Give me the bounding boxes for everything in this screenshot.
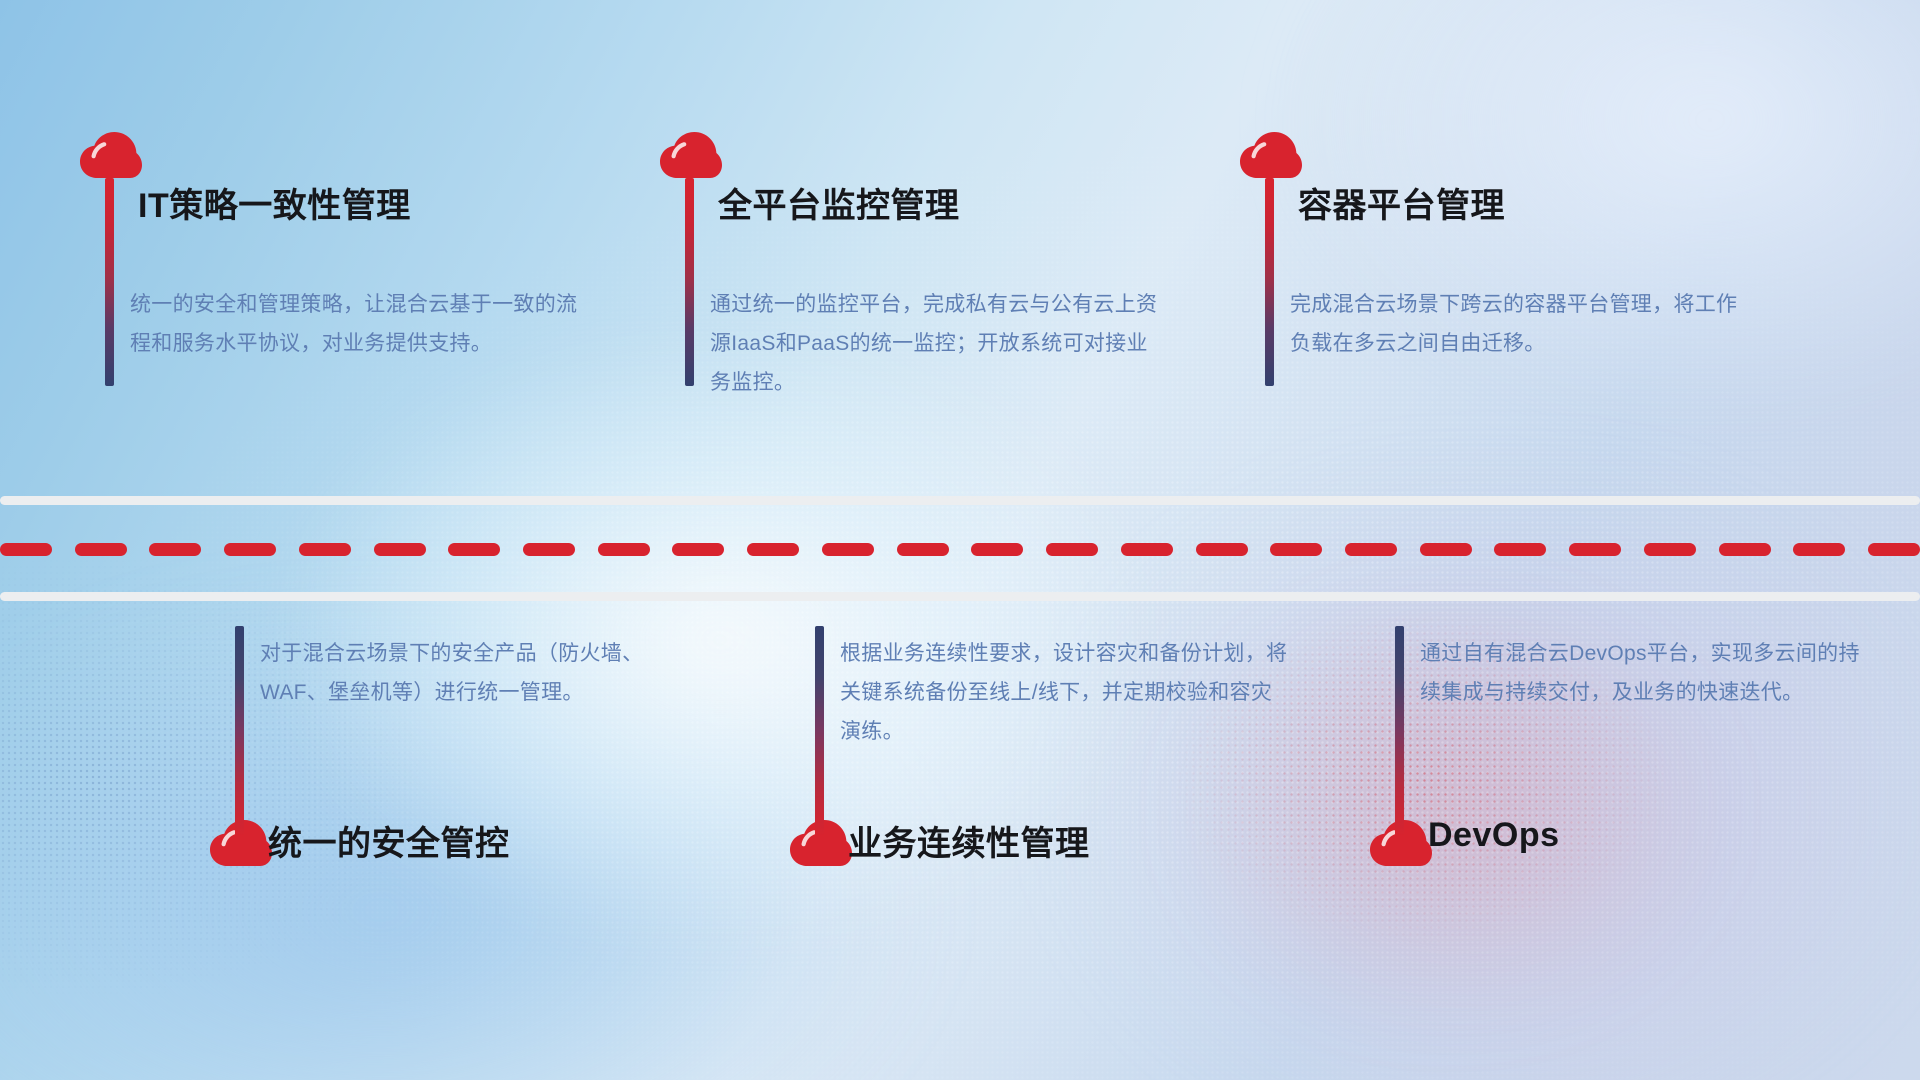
column-description: 根据业务连续性要求，设计容灾和备份计划，将关键系统备份至线上/线下，并定期校验和… <box>840 634 1290 751</box>
divider-dash <box>971 543 1023 556</box>
column-heading: 容器平台管理 <box>1298 178 1505 227</box>
divider-dash <box>1121 543 1173 556</box>
divider-dashed-line <box>0 543 1920 556</box>
infographic-canvas: IT策略一致性管理统一的安全和管理策略，让混合云基于一致的流程和服务水平协议，对… <box>0 0 1920 1080</box>
connector-line <box>685 178 694 386</box>
divider-dash <box>0 543 52 556</box>
connector-line <box>1265 178 1274 386</box>
divider-dash <box>1793 543 1845 556</box>
divider-dash <box>1345 543 1397 556</box>
divider-dash <box>672 543 724 556</box>
divider-dash <box>448 543 500 556</box>
cloud-pin-icon[interactable] <box>1238 132 1302 180</box>
divider-dash <box>149 543 201 556</box>
divider-dash <box>1644 543 1696 556</box>
column-heading: IT策略一致性管理 <box>138 178 411 227</box>
divider-dash <box>1569 543 1621 556</box>
divider-dash <box>1420 543 1472 556</box>
divider-dash <box>1270 543 1322 556</box>
column-description: 通过统一的监控平台，完成私有云与公有云上资源IaaS和PaaS的统一监控；开放系… <box>710 285 1160 402</box>
connector-line <box>815 626 824 836</box>
divider-dash <box>822 543 874 556</box>
divider-rule-top <box>0 496 1920 505</box>
divider-dash <box>1868 543 1920 556</box>
column-heading: DevOps <box>1428 816 1560 855</box>
column-description: 对于混合云场景下的安全产品（防火墙、WAF、堡垒机等）进行统一管理。 <box>260 634 710 712</box>
divider-dash <box>224 543 276 556</box>
divider-dash <box>75 543 127 556</box>
column-description: 完成混合云场景下跨云的容器平台管理，将工作负载在多云之间自由迁移。 <box>1290 285 1740 363</box>
connector-line <box>1395 626 1404 836</box>
column-heading: 统一的安全管控 <box>268 816 510 865</box>
divider-dash <box>1046 543 1098 556</box>
divider-dash <box>523 543 575 556</box>
divider-dash <box>598 543 650 556</box>
column-heading: 全平台监控管理 <box>718 178 960 227</box>
connector-line <box>105 178 114 386</box>
divider-rule-bottom <box>0 592 1920 601</box>
column-description: 通过自有混合云DevOps平台，实现多云间的持续集成与持续交付，及业务的快速迭代… <box>1420 634 1870 712</box>
divider-dash <box>1196 543 1248 556</box>
divider-dash <box>747 543 799 556</box>
column-heading: 业务连续性管理 <box>848 816 1090 865</box>
divider-dash <box>897 543 949 556</box>
background-dot-texture-blue <box>0 0 1920 1080</box>
divider-dash <box>374 543 426 556</box>
column-description: 统一的安全和管理策略，让混合云基于一致的流程和服务水平协议，对业务提供支持。 <box>130 285 580 363</box>
divider-dash <box>299 543 351 556</box>
cloud-pin-icon[interactable] <box>78 132 142 180</box>
divider-dash <box>1719 543 1771 556</box>
divider-dash <box>1494 543 1546 556</box>
cloud-pin-icon[interactable] <box>658 132 722 180</box>
connector-line <box>235 626 244 836</box>
